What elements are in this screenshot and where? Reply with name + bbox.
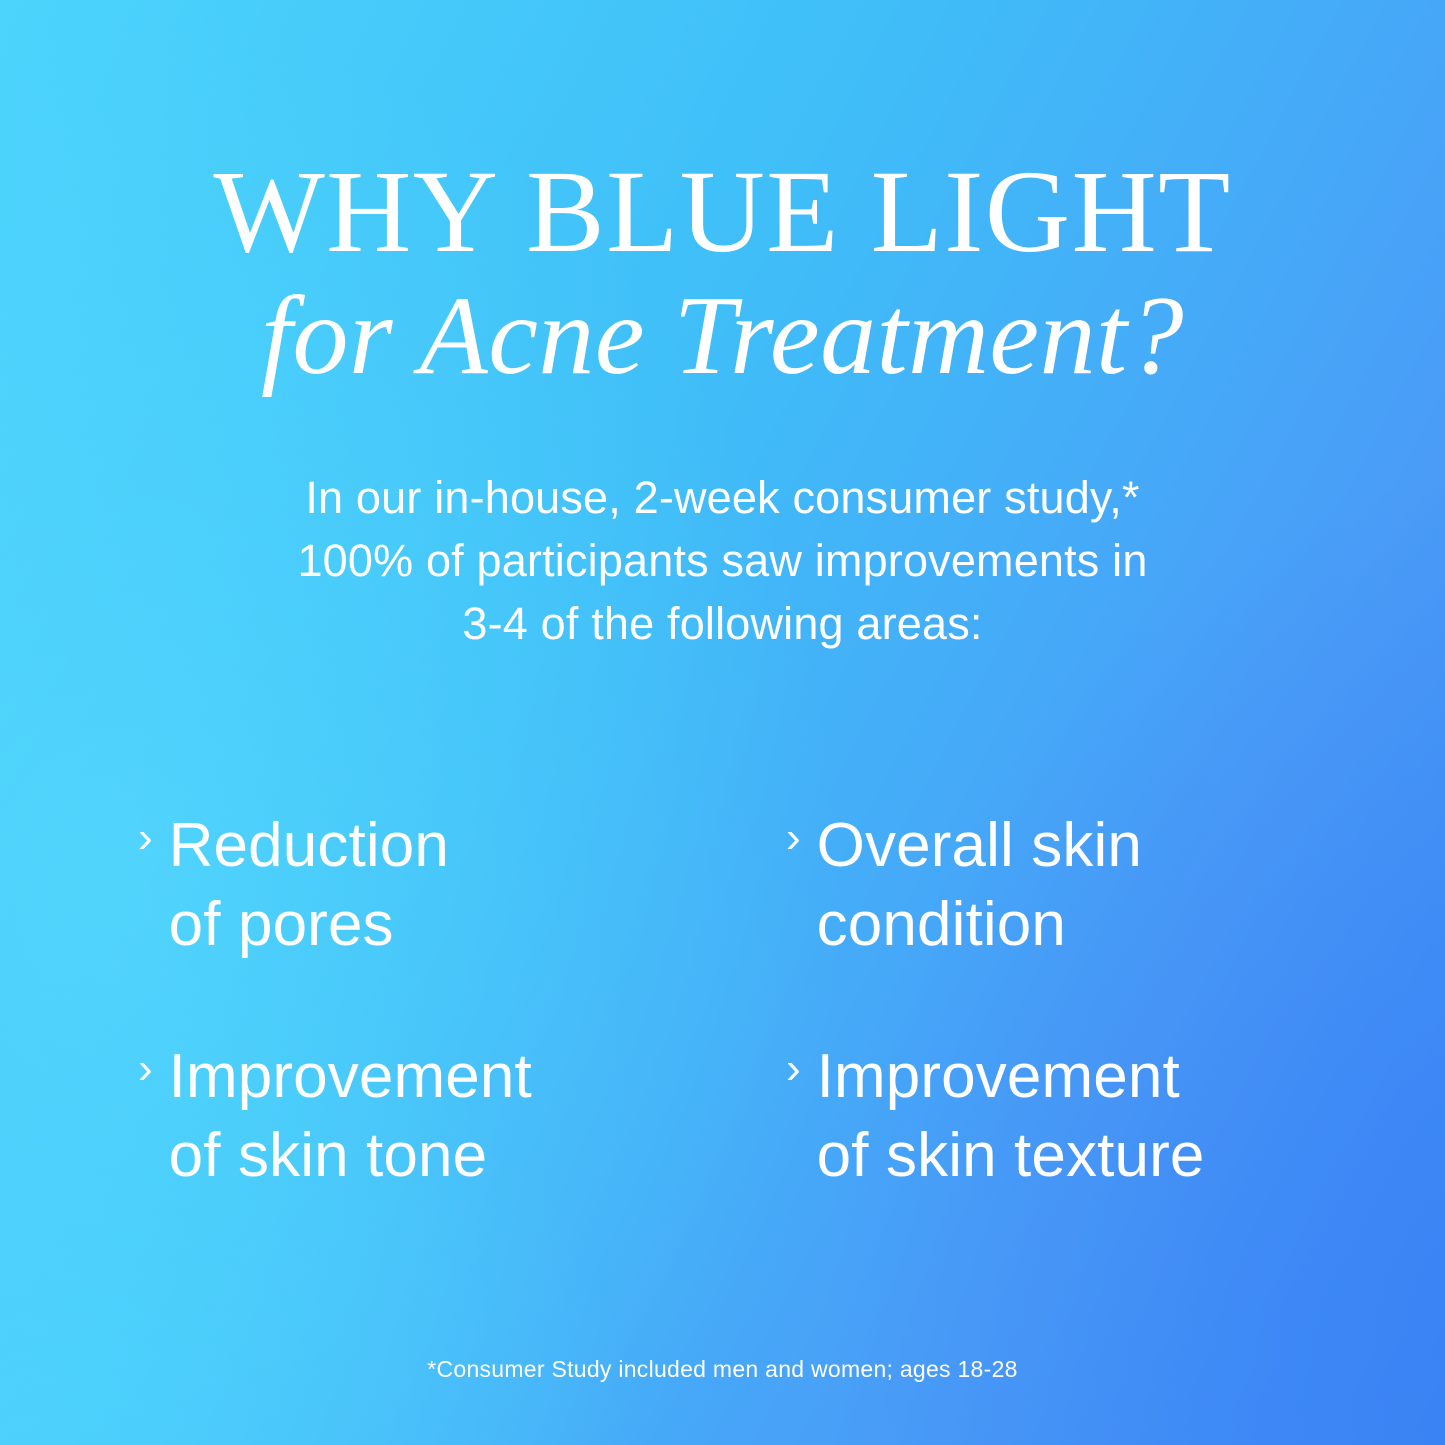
benefit-label: Improvement of skin texture	[817, 1037, 1205, 1196]
promo-card: WHY BLUE LIGHT for Acne Treatment? In ou…	[0, 0, 1445, 1445]
benefit-label: Overall skin condition	[817, 806, 1142, 965]
benefit-item-reduction-of-pores: › Reduction of pores	[138, 806, 786, 965]
chevron-right-icon: ›	[138, 1041, 153, 1097]
benefit-item-overall-skin-condition: › Overall skin condition	[786, 806, 1355, 965]
headline-block: WHY BLUE LIGHT for Acne Treatment?	[0, 152, 1445, 395]
benefit-label: Reduction of pores	[169, 806, 449, 965]
benefit-label: Improvement of skin tone	[169, 1037, 532, 1196]
benefit-line-1: Improvement	[817, 1042, 1180, 1111]
benefit-line-2: of pores	[169, 890, 394, 959]
footnote-disclaimer: *Consumer Study included men and women; …	[0, 1356, 1445, 1383]
benefit-item-improvement-of-skin-texture: › Improvement of skin texture	[786, 1037, 1355, 1196]
intro-line-3: 3-4 of the following areas:	[150, 592, 1295, 655]
benefits-grid: › Reduction of pores › Overall skin cond…	[138, 806, 1355, 1195]
benefit-line-1: Improvement	[169, 1042, 532, 1111]
intro-line-1: In our in-house, 2-week consumer study,*	[150, 466, 1295, 529]
benefit-line-1: Overall skin	[817, 811, 1142, 880]
chevron-right-icon: ›	[138, 810, 153, 866]
chevron-right-icon: ›	[786, 810, 801, 866]
headline-primary: WHY BLUE LIGHT	[80, 152, 1365, 272]
headline-secondary: for Acne Treatment?	[80, 278, 1365, 394]
intro-paragraph: In our in-house, 2-week consumer study,*…	[0, 466, 1445, 655]
benefit-item-improvement-of-skin-tone: › Improvement of skin tone	[138, 1037, 786, 1196]
benefit-line-1: Reduction	[169, 811, 449, 880]
intro-line-2: 100% of participants saw improvements in	[150, 529, 1295, 592]
benefit-line-2: of skin texture	[817, 1121, 1205, 1190]
benefit-line-2: condition	[817, 890, 1066, 959]
benefit-line-2: of skin tone	[169, 1121, 488, 1190]
chevron-right-icon: ›	[786, 1041, 801, 1097]
